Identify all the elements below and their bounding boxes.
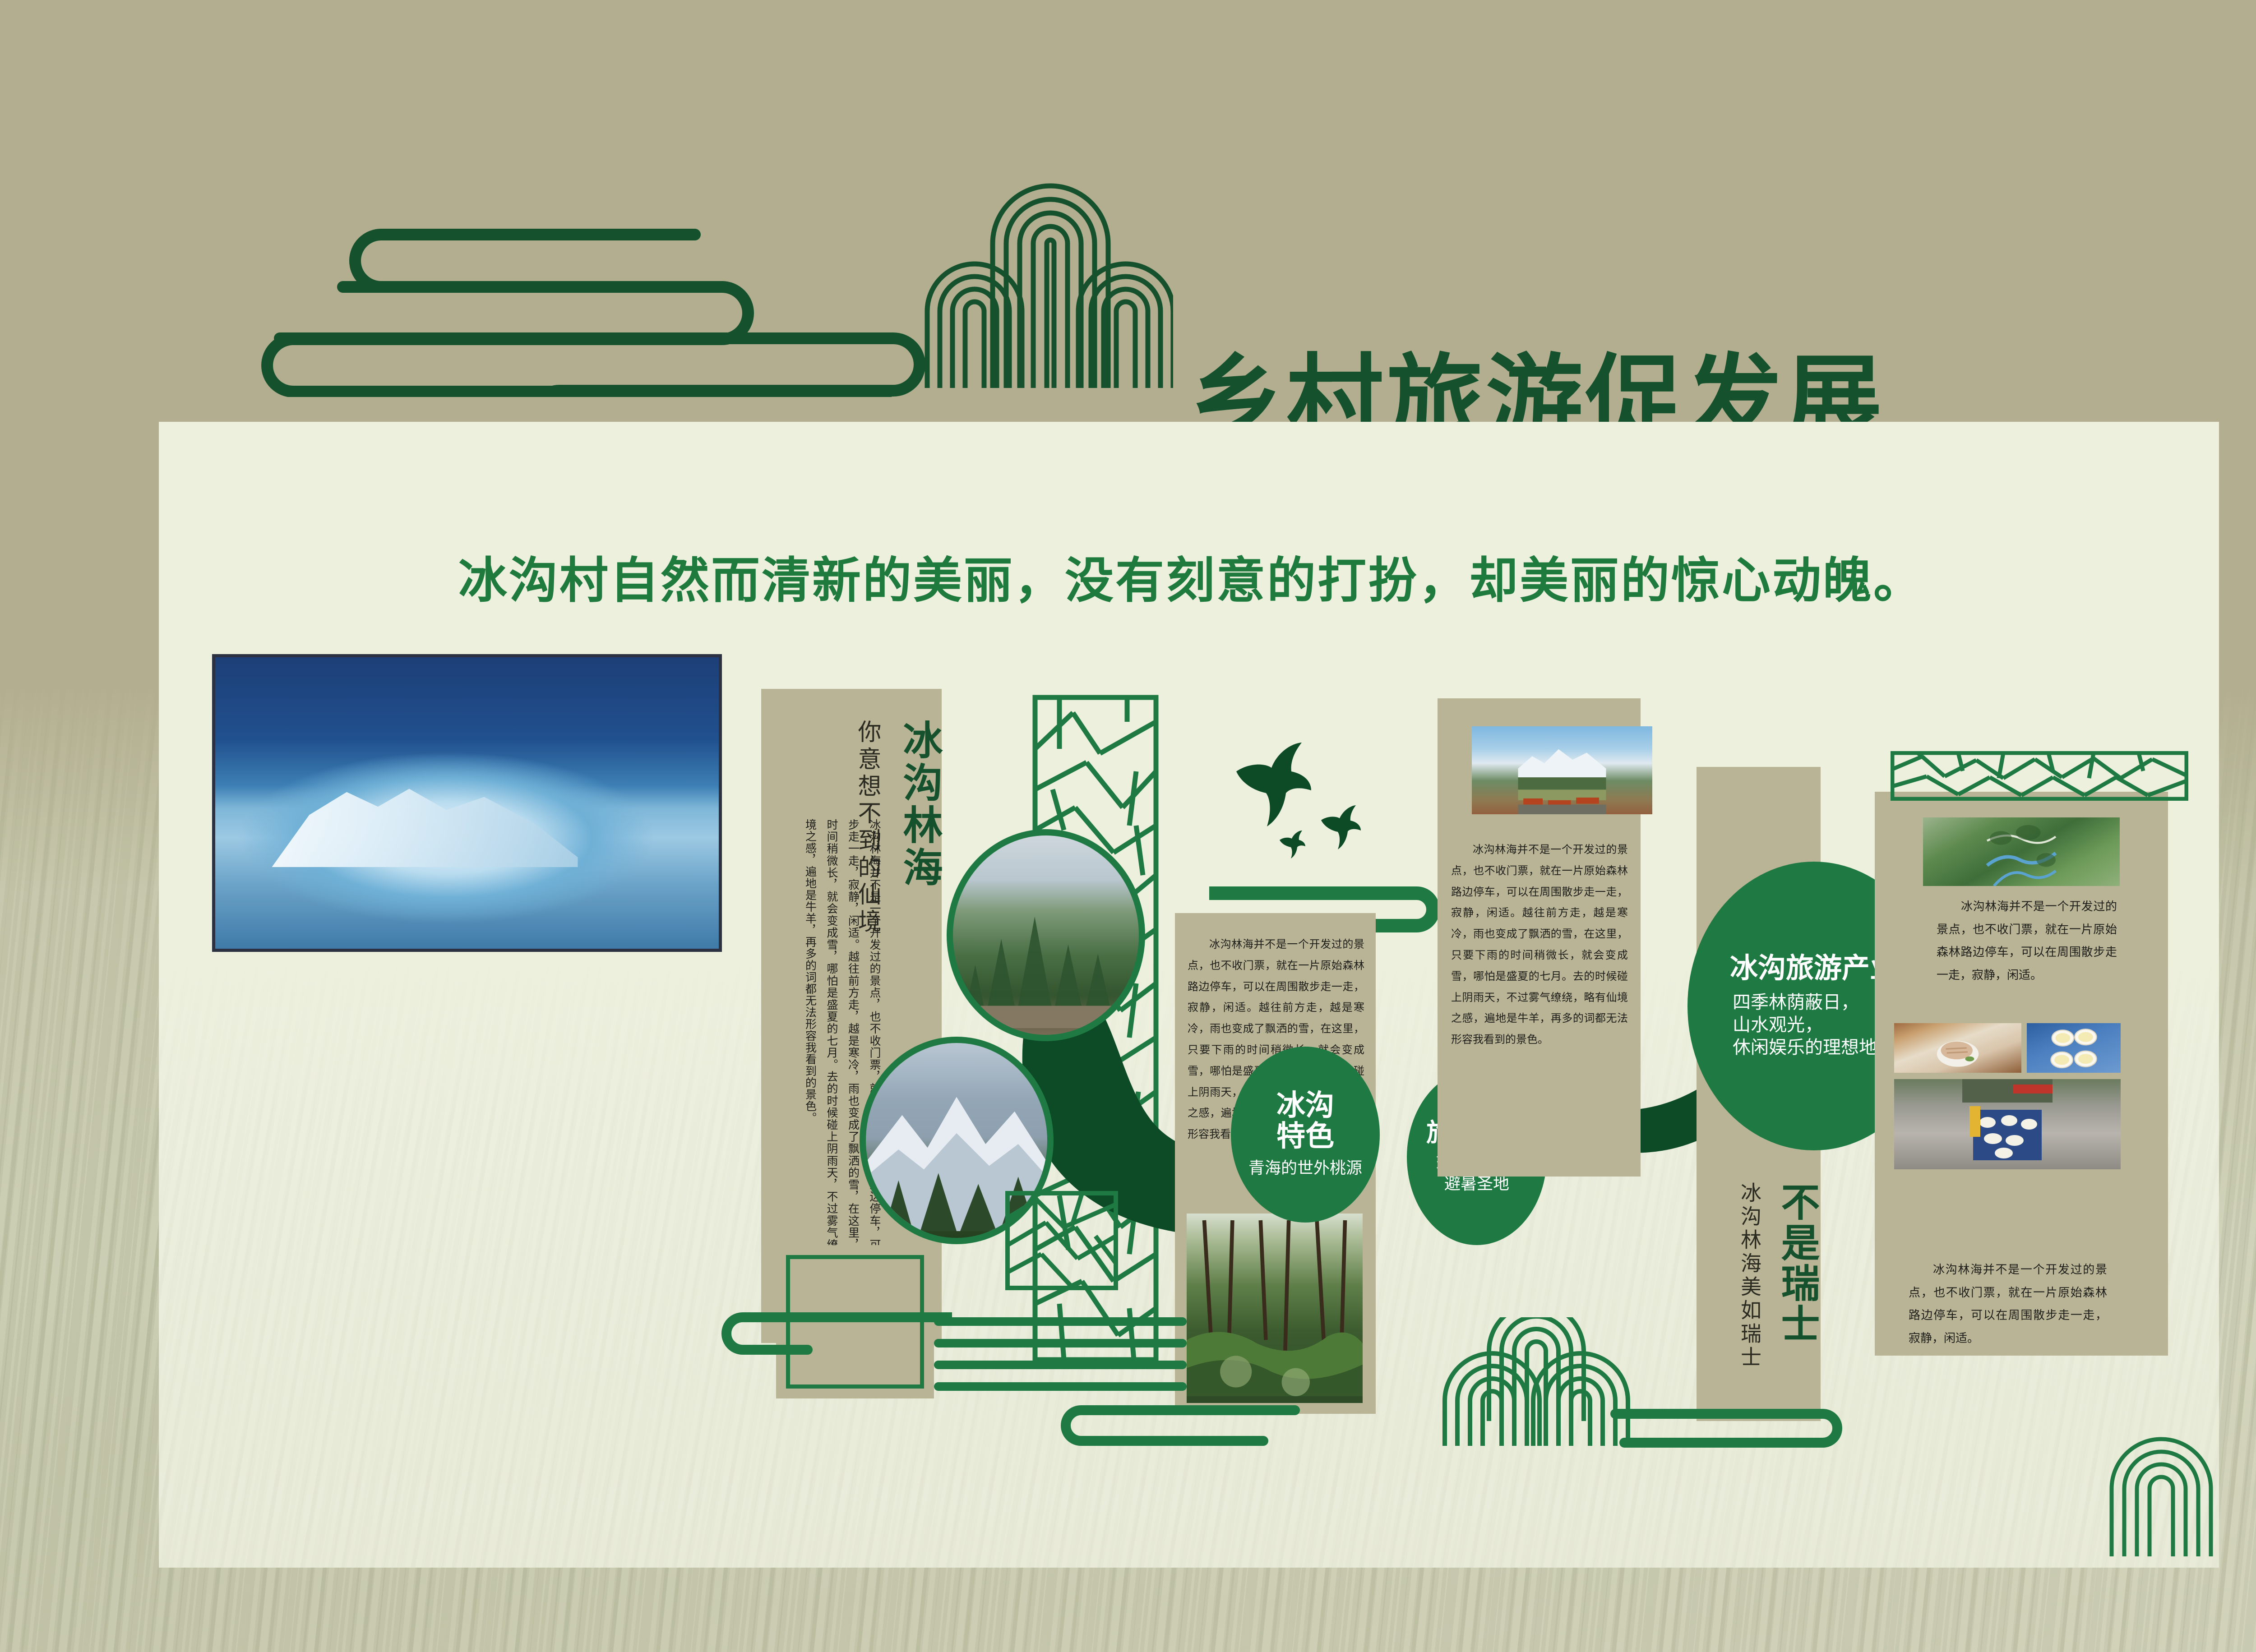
circle-1-subtitle: 青海的世外桃源: [1248, 1158, 1362, 1178]
right-panel-heading: 不是瑞士: [1769, 1182, 1825, 1376]
crackle-lattice-small: [1005, 1191, 1118, 1290]
bar-line-1: [934, 1317, 1187, 1326]
mountain-panel-body: 冰沟林海并不是一个开发过的景点，也不收门票，就在一片原始森林路边停车，可以在周围…: [1451, 839, 1628, 970]
aerial-resort-plan-photo: [1923, 817, 2120, 886]
right-panel-subheading: 冰沟林海美如瑞士: [1735, 1182, 1765, 1435]
village-snow-mountain-photo: [1472, 726, 1652, 814]
bar-line-4: [934, 1382, 1187, 1391]
rounded-line-ornament-right: [1606, 1403, 1859, 1471]
far-right-body-top: 冰沟林海并不是一个开发过的景点，也不收门票，就在一片原始森林路边停车，可以在周围…: [1937, 895, 2117, 959]
crackle-lattice-strip: [1891, 751, 2188, 801]
far-right-body-bottom: 冰沟林海并不是一个开发过的景点，也不收门票，就在一片原始森林路边停车，可以在周围…: [1909, 1259, 2107, 1322]
mutton-dish-photo: [1894, 1023, 2021, 1073]
circle-1-title: 冰沟 特色: [1276, 1091, 1334, 1151]
forest-road-photo: [947, 829, 1145, 1041]
header: 乡村旅游促发展: [0, 117, 2256, 433]
rounded-line-ornament-left: [717, 1308, 952, 1403]
mossy-forest-photo: [1187, 1214, 1363, 1403]
board-subtitle: 冰沟村自然而清新的美丽，没有刻意的打扮，却美丽的惊心动魄。: [0, 541, 2256, 612]
cloud-swirl-ornament-icon: [226, 162, 1173, 397]
circle-3-subtitle: 四季林荫蔽日， 山水观光， 休闲娱乐的理想地。: [1733, 991, 1895, 1059]
mountain-arch-ornament-2: [2094, 1421, 2229, 1556]
bar-line-3: [934, 1361, 1187, 1369]
circle-3-title: 冰沟旅游产业: [1730, 953, 1898, 983]
yogurt-bowls-photo: [2027, 1023, 2121, 1073]
center-panel-body: 冰沟林海并不是一个开发过的景点，也不收门票，就在一片原始森林路边停车，可以在周围…: [1188, 934, 1364, 1065]
circle-bingou-tese[interactable]: 冰沟 特色 青海的世外桃源: [1231, 1047, 1380, 1223]
iceberg-photo: [212, 654, 722, 952]
food-market-photo: [1894, 1079, 2121, 1169]
mountain-arch-ornament: [1439, 1317, 1633, 1448]
bar-line-2: [934, 1339, 1187, 1347]
left-panel-body: 冰沟林海并不是一个开发过的景点，也不收门票，就在一片原始森林路边停车，可以在周围…: [772, 819, 885, 1311]
flying-birds-icon: [1218, 740, 1390, 889]
left-panel-heading: 冰沟林海: [891, 720, 948, 972]
rounded-line-ornament-bottom: [1051, 1398, 1304, 1471]
